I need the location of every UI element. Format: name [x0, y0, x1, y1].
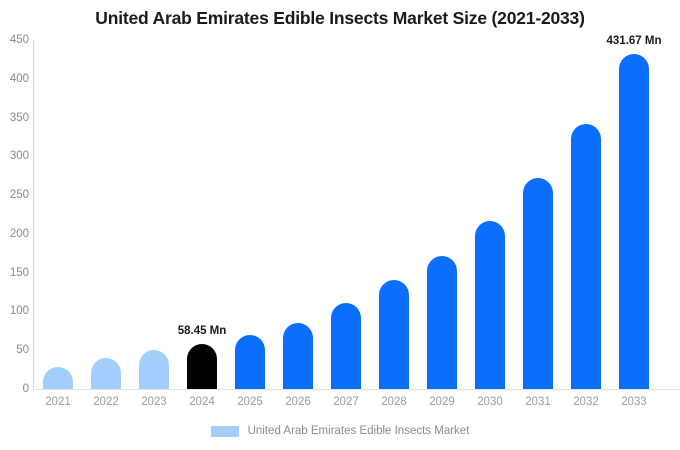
bar-2027[interactable] [331, 303, 361, 389]
x-axis-tick-label: 2024 [178, 396, 226, 408]
bar-chart: United Arab Emirates Edible Insects Mark… [0, 0, 680, 450]
bar-2033[interactable] [619, 54, 649, 389]
y-axis-tick-labels: 050100150200250300350400450 [0, 0, 29, 450]
x-axis-tick-labels: 2021202220232024202520262027202820292030… [33, 396, 680, 416]
y-axis-tick-label: 100 [1, 305, 29, 317]
y-axis-tick-label: 250 [1, 189, 29, 201]
bar-2031[interactable] [523, 178, 553, 389]
x-axis-tick-label: 2033 [610, 396, 658, 408]
bar-2021[interactable] [43, 367, 73, 389]
legend-swatch-icon [211, 426, 239, 437]
x-axis-tick-label: 2030 [466, 396, 514, 408]
bar-2024[interactable] [187, 344, 217, 389]
x-axis-tick-label: 2026 [274, 396, 322, 408]
x-axis-tick-label: 2031 [514, 396, 562, 408]
legend-label: United Arab Emirates Edible Insects Mark… [248, 425, 470, 437]
bar-2032[interactable] [571, 124, 601, 389]
y-axis-tick-label: 50 [1, 344, 29, 356]
y-axis-tick-label: 300 [1, 150, 29, 162]
bar-value-label-2024: 58.45 Mn [178, 325, 227, 337]
bar-2026[interactable] [283, 323, 313, 389]
y-axis-tick-label: 200 [1, 228, 29, 240]
y-axis-tick-label: 350 [1, 112, 29, 124]
x-axis-tick-label: 2029 [418, 396, 466, 408]
x-axis-tick-label: 2028 [370, 396, 418, 408]
y-axis-tick-label: 400 [1, 73, 29, 85]
bar-2028[interactable] [379, 280, 409, 389]
chart-title: United Arab Emirates Edible Insects Mark… [0, 8, 680, 29]
bar-value-label-2033: 431.67 Mn [607, 35, 662, 47]
chart-legend: United Arab Emirates Edible Insects Mark… [0, 425, 680, 437]
y-axis-tick-label: 150 [1, 267, 29, 279]
x-axis-tick-label: 2023 [130, 396, 178, 408]
bar-2025[interactable] [235, 335, 265, 389]
x-axis-tick-label: 2022 [82, 396, 130, 408]
bar-2030[interactable] [475, 221, 505, 389]
x-axis-line [33, 389, 680, 390]
x-axis-tick-label: 2032 [562, 396, 610, 408]
bar-2022[interactable] [91, 358, 121, 389]
x-axis-tick-label: 2025 [226, 396, 274, 408]
bars-layer [33, 40, 680, 389]
y-axis-tick-label: 0 [1, 383, 29, 395]
y-axis-tick-label: 450 [1, 34, 29, 46]
bar-2029[interactable] [427, 256, 457, 389]
x-axis-tick-label: 2027 [322, 396, 370, 408]
x-axis-tick-label: 2021 [34, 396, 82, 408]
bar-2023[interactable] [139, 350, 169, 389]
